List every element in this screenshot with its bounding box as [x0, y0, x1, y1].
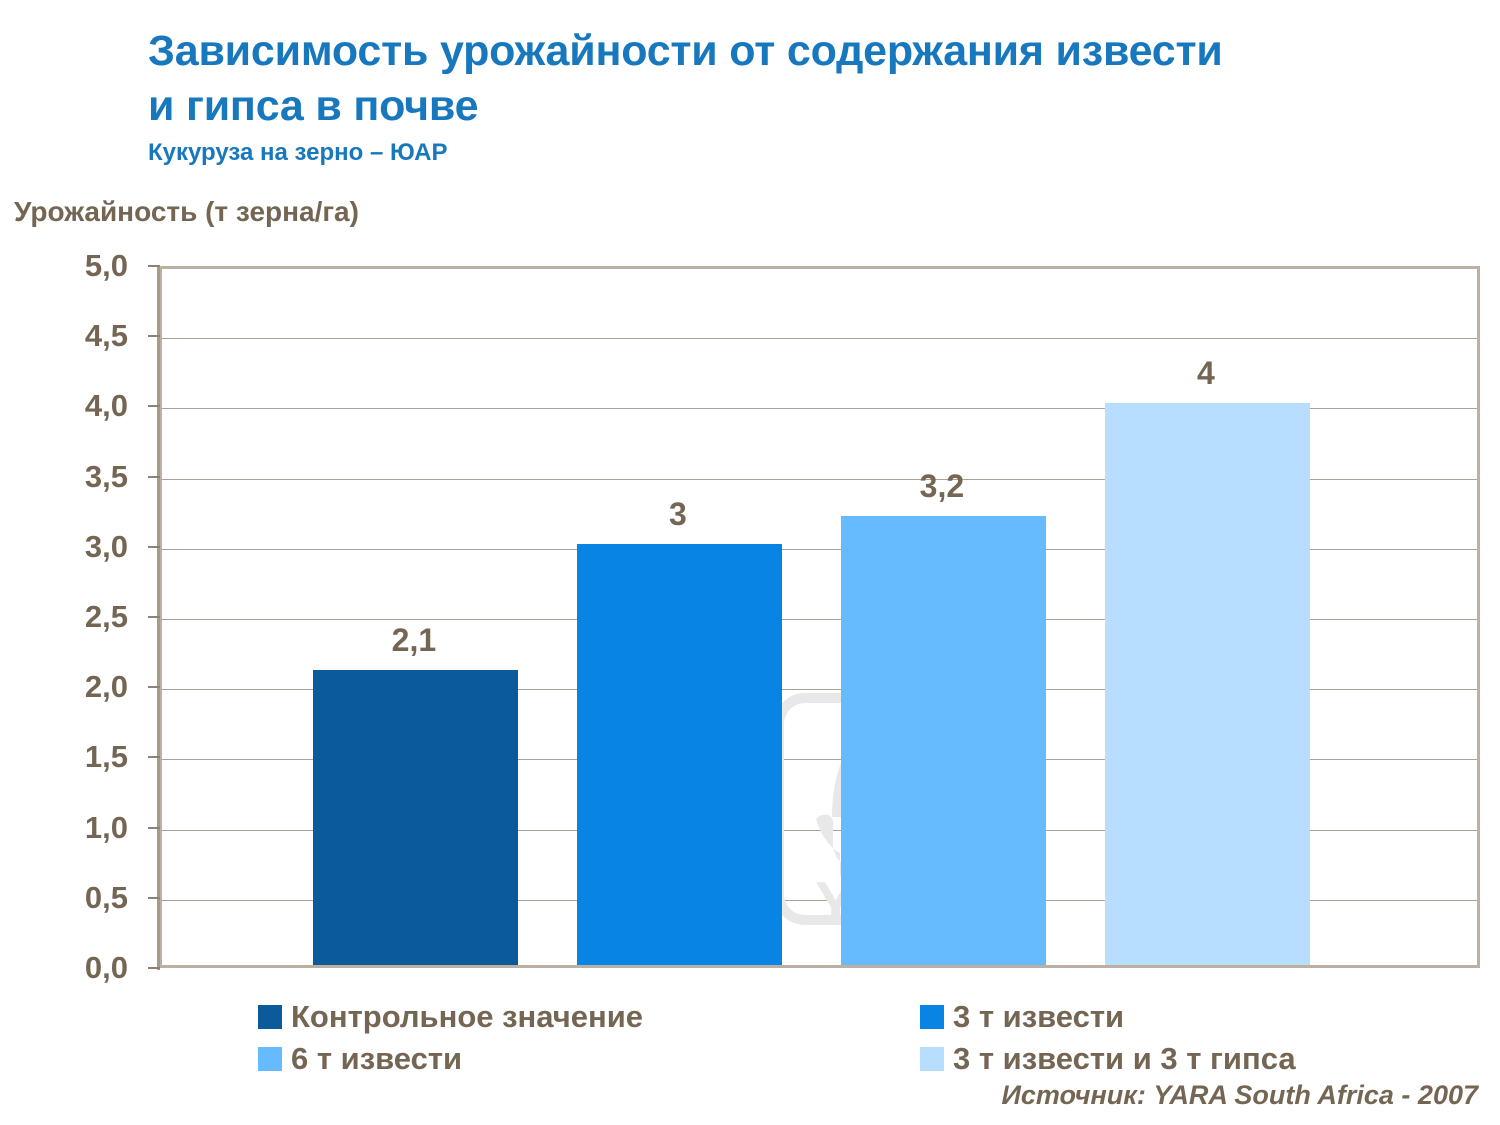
- legend-item-label: Контрольное значение: [291, 1001, 643, 1032]
- bar[interactable]: [1105, 403, 1310, 965]
- legend-swatch-icon: [920, 1005, 944, 1029]
- legend-swatch-icon: [920, 1047, 944, 1071]
- page-title: Зависимость урожайности от содержания из…: [148, 24, 1478, 134]
- y-tick-mark: [148, 335, 160, 337]
- legend-item-3t-lime[interactable]: 3 т извести: [920, 1001, 1124, 1032]
- y-tick-label: 2,5: [85, 601, 128, 632]
- legend-swatch-icon: [258, 1047, 282, 1071]
- page-subtitle: Кукуруза на зерно – ЮАР: [148, 140, 1478, 166]
- y-tick-label: 1,0: [85, 812, 128, 843]
- y-tick-mark: [148, 546, 160, 548]
- legend-item-label: 3 т извести и 3 т гипса: [953, 1043, 1296, 1074]
- y-tick-label: 3,5: [85, 461, 128, 492]
- y-tick-mark: [148, 756, 160, 758]
- legend-item-control[interactable]: Контрольное значение: [258, 1001, 643, 1032]
- y-tick-mark: [148, 686, 160, 688]
- bar-value-label: 3: [575, 498, 780, 530]
- y-tick-label: 5,0: [85, 250, 128, 281]
- chart-legend: Контрольное значение 6 т извести 3 т изв…: [0, 995, 1500, 1083]
- y-tick-label: 4,0: [85, 390, 128, 421]
- y-tick-mark: [148, 827, 160, 829]
- y-tick-label: 4,5: [85, 320, 128, 351]
- y-tick-label: 1,5: [85, 741, 128, 772]
- legend-item-6t-lime[interactable]: 6 т извести: [258, 1043, 462, 1074]
- y-tick-mark: [148, 897, 160, 899]
- y-tick-label: 2,0: [85, 671, 128, 702]
- legend-swatch-icon: [258, 1005, 282, 1029]
- legend-item-3t-lime-3t-gypsum[interactable]: 3 т извести и 3 т гипса: [920, 1043, 1296, 1074]
- y-tick-label: 3,0: [85, 531, 128, 562]
- y-tick-label: 0,0: [85, 952, 128, 983]
- y-tick-mark: [148, 967, 160, 969]
- bar[interactable]: [577, 544, 782, 965]
- y-tick-mark: [148, 265, 160, 267]
- y-tick-mark: [148, 405, 160, 407]
- bar-value-label: 3,2: [839, 470, 1044, 502]
- y-axis-title: Урожайность (т зерна/га): [14, 198, 359, 226]
- y-tick-mark: [148, 616, 160, 618]
- gridline: [162, 338, 1477, 339]
- source-note: Источник: YARA South Africa - 2007: [1001, 1082, 1478, 1109]
- y-tick-label: 0,5: [85, 882, 128, 913]
- legend-item-label: 3 т извести: [953, 1001, 1124, 1032]
- title-block: Зависимость урожайности от содержания из…: [148, 24, 1478, 166]
- y-tick-mark: [148, 476, 160, 478]
- bar-value-label: 4: [1103, 357, 1308, 389]
- bar-value-label: 2,1: [311, 624, 516, 656]
- legend-item-label: 6 т извести: [291, 1043, 462, 1074]
- bar[interactable]: [841, 516, 1046, 965]
- bar[interactable]: [313, 670, 518, 965]
